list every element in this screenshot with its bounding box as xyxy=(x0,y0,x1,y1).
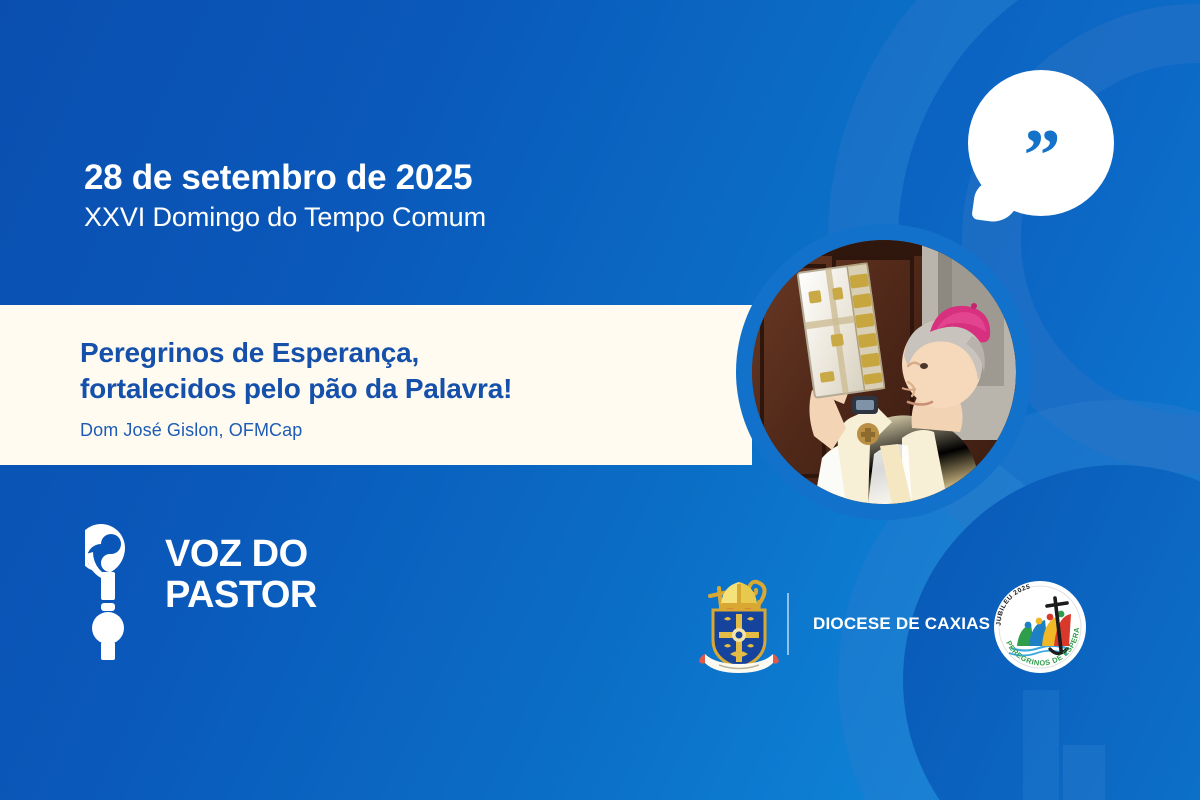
lockup-divider xyxy=(787,593,789,655)
voz-do-pastor-label: VOZ DO PASTOR xyxy=(165,534,317,616)
bishop-portrait-illustration xyxy=(752,240,1016,504)
poster-canvas: 28 de setembro de 2025 XXVI Domingo do T… xyxy=(0,0,1200,800)
quote-banner-content: Peregrinos de Esperança, fortalecidos pe… xyxy=(80,335,512,441)
liturgy-title: XXVI Domingo do Tempo Comum xyxy=(84,202,486,233)
quote-mark-icon: ” xyxy=(1024,119,1059,193)
crosier-icon xyxy=(85,508,163,660)
speech-bubble: ” xyxy=(968,70,1114,216)
quote-banner: Peregrinos de Esperança, fortalecidos pe… xyxy=(0,305,752,465)
coat-of-arms-icon xyxy=(697,574,781,674)
quote-author: Dom José Gislon, OFMCap xyxy=(80,420,512,441)
portrait-ring xyxy=(736,224,1032,520)
date-block: 28 de setembro de 2025 XXVI Domingo do T… xyxy=(84,158,486,233)
voz-do-pastor-logo: VOZ DO PASTOR xyxy=(85,508,317,660)
jubilee-2025-seal: JUBILEU 2025 PEREGRINOS DE ESPERANÇA xyxy=(993,580,1087,674)
background-bar-primary xyxy=(1063,745,1105,800)
background-bar-secondary xyxy=(1023,690,1059,800)
speech-bubble-body: ” xyxy=(968,70,1114,216)
bishop-portrait xyxy=(752,240,1016,504)
date-main: 28 de setembro de 2025 xyxy=(84,158,486,198)
quote-text: Peregrinos de Esperança, fortalecidos pe… xyxy=(80,335,512,408)
